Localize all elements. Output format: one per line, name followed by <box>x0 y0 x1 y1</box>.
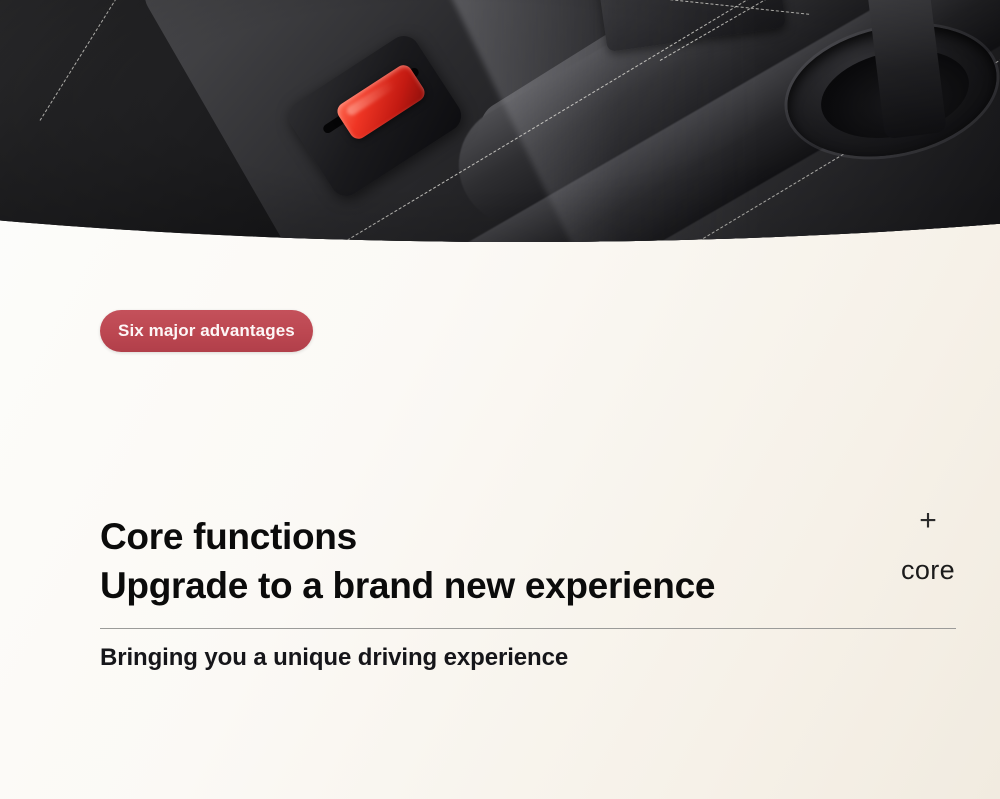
brand-mark-label: core <box>866 555 990 585</box>
headline-divider <box>100 628 956 629</box>
plus-icon: + <box>866 506 990 536</box>
car-interior-photo <box>0 0 1000 268</box>
photo-vignette <box>0 0 1000 268</box>
promo-banner-page: Six major advantages Core functions Upgr… <box>0 0 1000 799</box>
subtitle: Bringing you a unique driving experience <box>100 641 568 675</box>
headline-block: Core functions Upgrade to a brand new ex… <box>100 512 860 610</box>
brand-mark: + core <box>866 506 990 585</box>
section-badge: Six major advantages <box>100 310 313 352</box>
headline-line-2: Upgrade to a brand new experience <box>100 561 860 610</box>
headline-line-1: Core functions <box>100 512 860 561</box>
photo-canvas <box>0 0 1000 268</box>
